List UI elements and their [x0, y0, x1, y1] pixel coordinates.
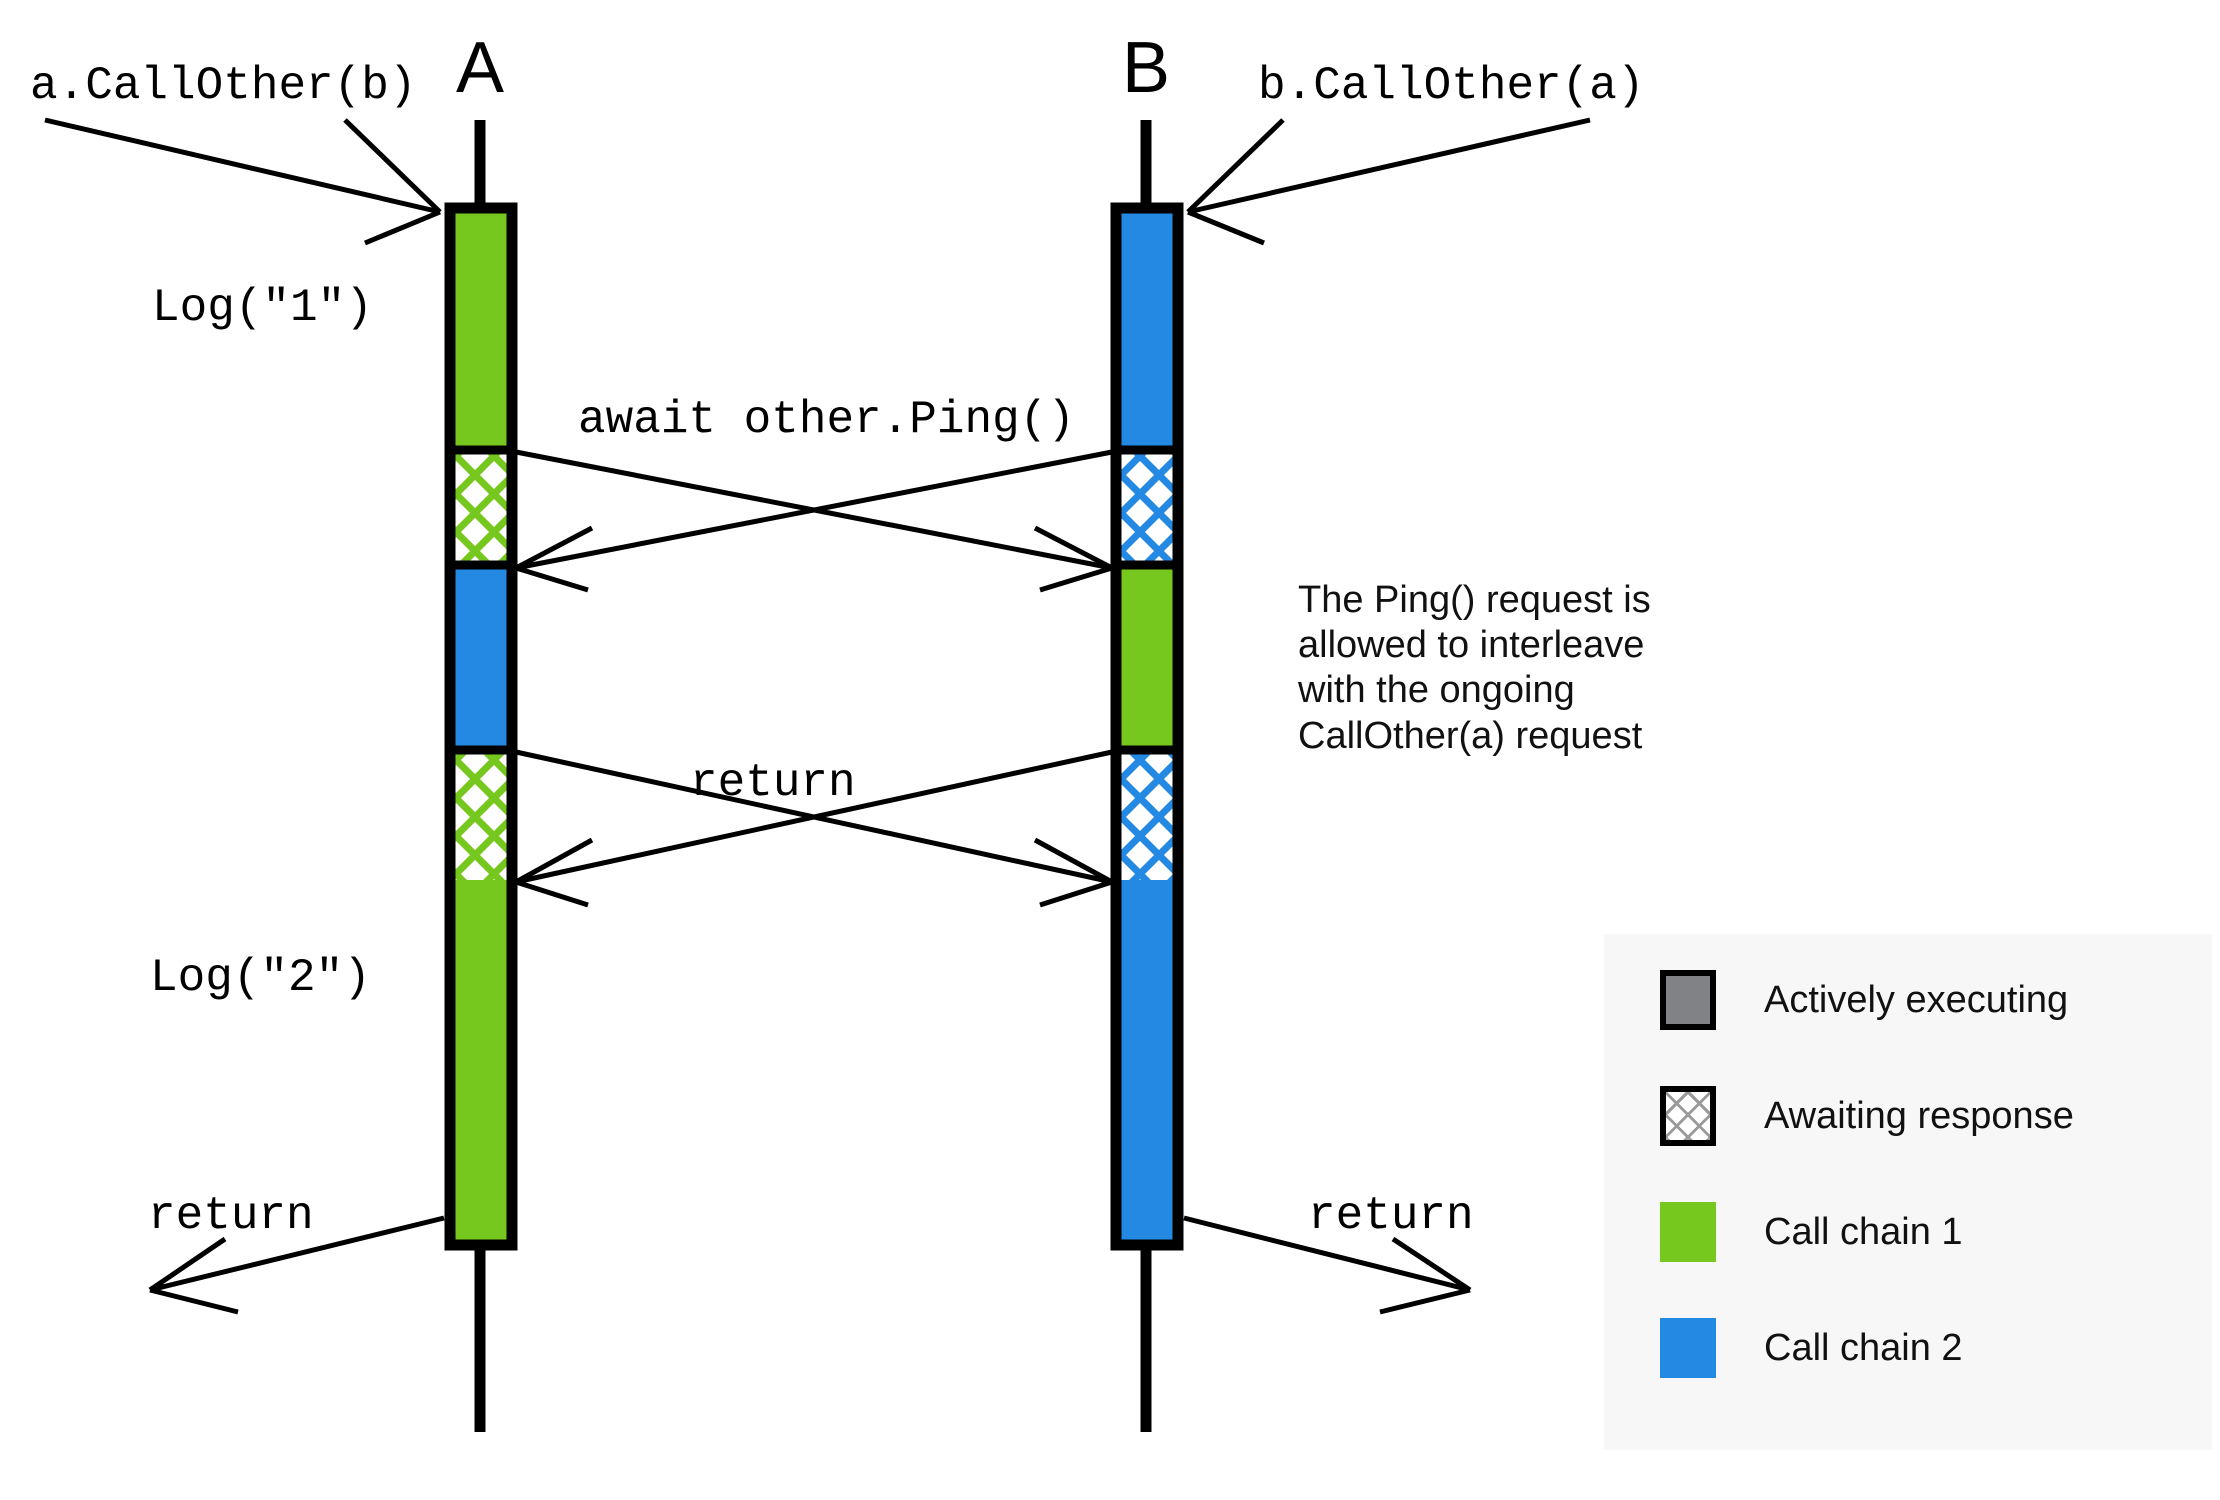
actor-b-seg-executing-chain-2 [1116, 208, 1178, 450]
actor-b-seg-awaiting-ping [1116, 450, 1178, 565]
actor-b-group: B [1116, 28, 1178, 1432]
legend-item-actively-executing: Actively executing [1660, 970, 2068, 1030]
label-await-ping: await other.Ping() [578, 394, 1075, 446]
label-return-right: return [1308, 1190, 1474, 1242]
legend-panel: Actively executing Awaiting response Cal… [1604, 934, 2212, 1450]
legend-swatch-call-chain-1 [1660, 1202, 1716, 1262]
legend-swatch-call-chain-2 [1660, 1318, 1716, 1378]
actor-b-seg-resumed-chain-2 [1116, 880, 1178, 1245]
diagram-canvas: A B [0, 0, 2220, 1500]
actor-a-label: A [456, 28, 504, 108]
actor-b-seg-handling-ping [1116, 565, 1178, 750]
actor-a-seg-handling-ping [450, 565, 512, 750]
note-line-3: with the ongoing [1298, 668, 1768, 713]
label-log-1: Log("1") [152, 282, 373, 334]
arrow-ping-response [516, 452, 1112, 590]
legend-item-call-chain-1: Call chain 1 [1660, 1202, 1963, 1262]
actor-a-seg-executing-chain-1 [450, 208, 512, 450]
arrow-b-callother [1188, 120, 1590, 243]
label-return-mid: return [690, 757, 856, 809]
actor-a-group: A [450, 28, 512, 1432]
note-line-1: The Ping() request is [1298, 578, 1768, 623]
actor-a-seg-awaiting-return [450, 750, 512, 880]
legend-item-call-chain-2: Call chain 2 [1660, 1318, 1963, 1378]
legend-swatch-actively-executing [1660, 970, 1716, 1030]
label-b-callother: b.CallOther(a) [1258, 60, 1644, 112]
actor-a-seg-awaiting-ping [450, 450, 512, 565]
actor-b-label: B [1122, 28, 1170, 108]
legend-swatch-awaiting-response [1660, 1086, 1716, 1146]
legend-label-awaiting-response: Awaiting response [1764, 1097, 2074, 1135]
label-log-2: Log("2") [150, 952, 371, 1004]
legend-label-call-chain-1: Call chain 1 [1764, 1213, 1963, 1251]
actor-a-seg-resumed-chain-1 [450, 880, 512, 1245]
actor-b-seg-awaiting-return [1116, 750, 1178, 880]
legend-label-actively-executing: Actively executing [1764, 981, 2068, 1019]
arrow-a-callother [45, 120, 440, 243]
arrow-ping-request [516, 452, 1112, 590]
legend-item-awaiting-response: Awaiting response [1660, 1086, 2074, 1146]
label-a-callother: a.CallOther(b) [30, 60, 416, 112]
label-return-left: return [148, 1190, 314, 1242]
note-line-4: CallOther(a) request [1298, 714, 1768, 759]
legend-label-call-chain-2: Call chain 2 [1764, 1329, 1963, 1367]
note-line-2: allowed to interleave [1298, 623, 1768, 668]
interleave-note: The Ping() request is allowed to interle… [1298, 578, 1768, 759]
